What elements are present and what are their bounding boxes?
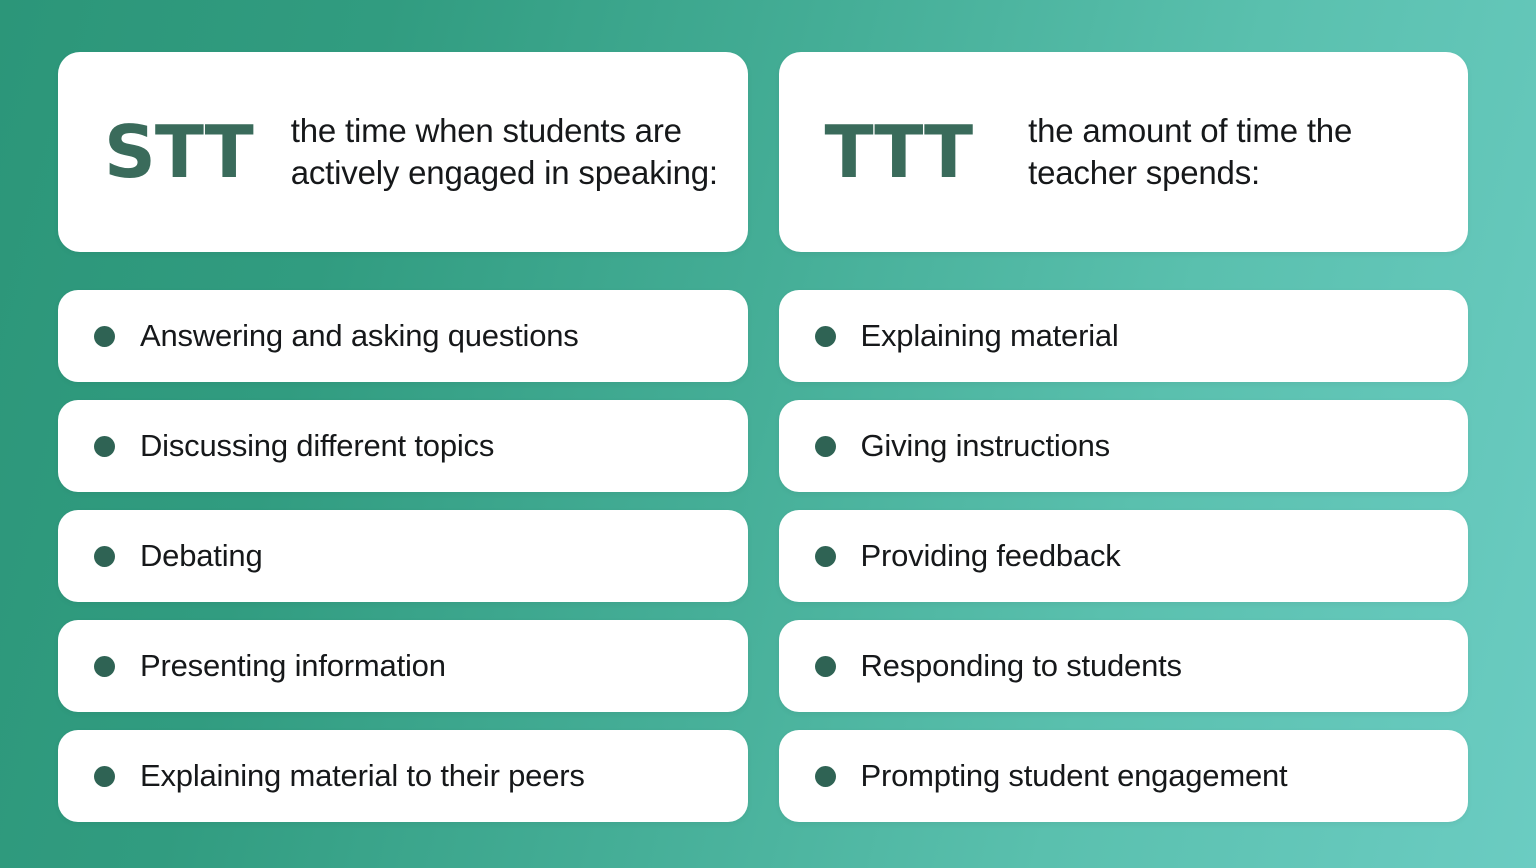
list-item[interactable]: Answering and asking questions: [58, 290, 748, 382]
list-item[interactable]: Prompting student engagement: [779, 730, 1469, 822]
bullet-icon: [94, 656, 115, 677]
list-item[interactable]: Discussing different topics: [58, 400, 748, 492]
list-item-label: Answering and asking questions: [140, 317, 579, 354]
list-item-label: Debating: [140, 537, 263, 574]
list-item[interactable]: Debating: [58, 510, 748, 602]
header-description-stt: the time when students are actively enga…: [291, 110, 722, 194]
list-item[interactable]: Giving instructions: [779, 400, 1469, 492]
column-ttt: TTT the amount of time the teacher spend…: [779, 52, 1469, 824]
header-card-stt: STT the time when students are actively …: [58, 52, 748, 252]
list-ttt: Explaining material Giving instructions …: [779, 290, 1469, 824]
abbreviation-ttt: TTT: [825, 116, 973, 188]
bullet-icon: [94, 436, 115, 457]
bullet-icon: [815, 546, 836, 567]
header-card-ttt: TTT the amount of time the teacher spend…: [779, 52, 1469, 252]
abbreviation-stt: STT: [104, 116, 253, 188]
bullet-icon: [94, 546, 115, 567]
list-item-label: Providing feedback: [861, 537, 1121, 574]
bullet-icon: [94, 326, 115, 347]
bullet-icon: [815, 436, 836, 457]
list-item[interactable]: Explaining material: [779, 290, 1469, 382]
list-item-label: Presenting information: [140, 647, 446, 684]
list-item[interactable]: Providing feedback: [779, 510, 1469, 602]
list-item[interactable]: Presenting information: [58, 620, 748, 712]
list-item-label: Responding to students: [861, 647, 1182, 684]
comparison-board: STT the time when students are actively …: [0, 0, 1536, 868]
column-stt: STT the time when students are actively …: [58, 52, 748, 824]
list-item-label: Giving instructions: [861, 427, 1110, 464]
list-item[interactable]: Responding to students: [779, 620, 1469, 712]
list-item-label: Explaining material: [861, 317, 1119, 354]
list-stt: Answering and asking questions Discussin…: [58, 290, 748, 824]
bullet-icon: [815, 656, 836, 677]
bullet-icon: [815, 326, 836, 347]
list-item[interactable]: Explaining material to their peers: [58, 730, 748, 822]
list-item-label: Explaining material to their peers: [140, 757, 585, 794]
header-description-ttt: the amount of time the teacher spends:: [1028, 110, 1442, 194]
list-item-label: Discussing different topics: [140, 427, 494, 464]
list-item-label: Prompting student engagement: [861, 757, 1288, 794]
bullet-icon: [815, 766, 836, 787]
bullet-icon: [94, 766, 115, 787]
